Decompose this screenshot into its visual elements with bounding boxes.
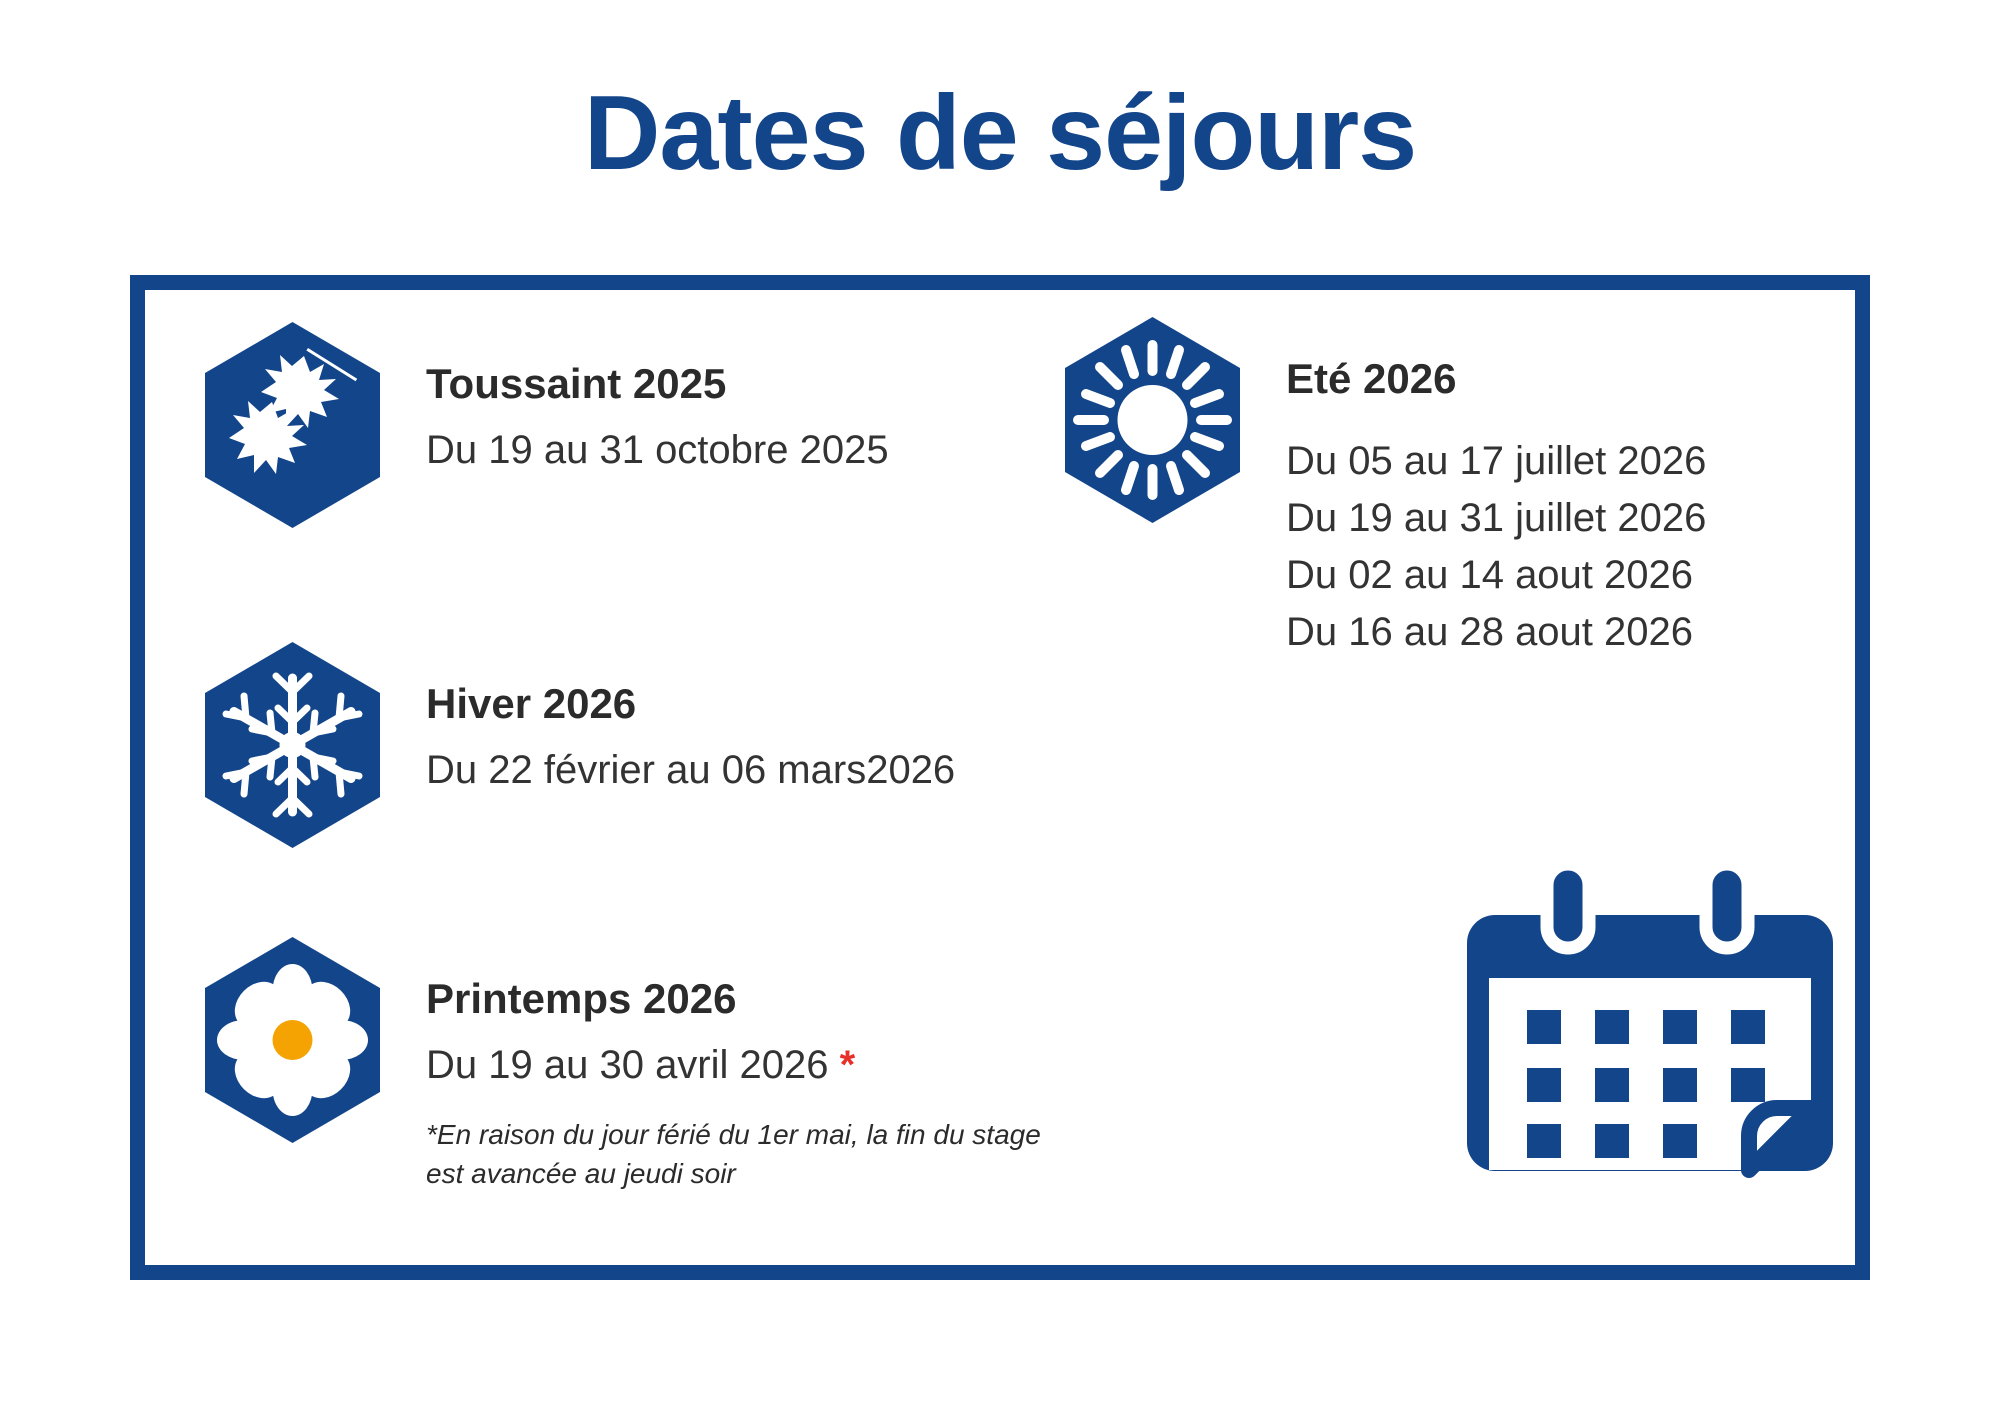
- season-entry-printemps: Printemps 2026 Du 19 au 30 avril 2026 * …: [195, 935, 1065, 1194]
- season-name: Toussaint 2025: [426, 360, 889, 408]
- season-dates: Du 19 au 31 octobre 2025: [426, 430, 889, 470]
- right-column: Eté 2026 Du 05 au 17 juillet 2026 Du 19 …: [1055, 290, 1835, 1265]
- list-item: Du 19 au 31 juillet 2026: [1286, 490, 1706, 547]
- season-name: Printemps 2026: [426, 975, 1065, 1023]
- season-dates: Du 19 au 30 avril 2026 *: [426, 1045, 1065, 1085]
- maple-leaves-icon: [195, 320, 390, 530]
- left-column: Toussaint 2025 Du 19 au 31 octobre 2025: [175, 290, 1065, 1265]
- list-item: Du 02 au 14 aout 2026: [1286, 547, 1706, 604]
- summer-date-list: Du 05 au 17 juillet 2026 Du 19 au 31 jui…: [1286, 433, 1706, 660]
- season-entry-toussaint: Toussaint 2025 Du 19 au 31 octobre 2025: [195, 320, 889, 530]
- page-title: Dates de séjours: [0, 78, 2000, 189]
- season-dates: Du 22 février au 06 mars2026: [426, 750, 955, 790]
- list-item: Du 16 au 28 aout 2026: [1286, 604, 1706, 661]
- snowflake-icon: [195, 640, 390, 850]
- season-name: Eté 2026: [1286, 355, 1706, 403]
- sun-icon: [1055, 315, 1250, 525]
- season-dates-text: Du 19 au 30 avril 2026: [426, 1043, 840, 1087]
- asterisk-marker: *: [840, 1043, 856, 1087]
- season-entry-ete: Eté 2026 Du 05 au 17 juillet 2026 Du 19 …: [1055, 315, 1706, 660]
- poster: Dates de séjours: [0, 0, 2000, 1414]
- footnote: *En raison du jour férié du 1er mai, la …: [426, 1115, 1065, 1193]
- season-entry-hiver: Hiver 2026 Du 22 février au 06 mars2026: [195, 640, 955, 850]
- content-frame: Toussaint 2025 Du 19 au 31 octobre 2025: [130, 275, 1870, 1280]
- flower-icon: [195, 935, 390, 1145]
- season-name: Hiver 2026: [426, 680, 955, 728]
- list-item: Du 05 au 17 juillet 2026: [1286, 433, 1706, 490]
- calendar-icon: [1455, 860, 1845, 1210]
